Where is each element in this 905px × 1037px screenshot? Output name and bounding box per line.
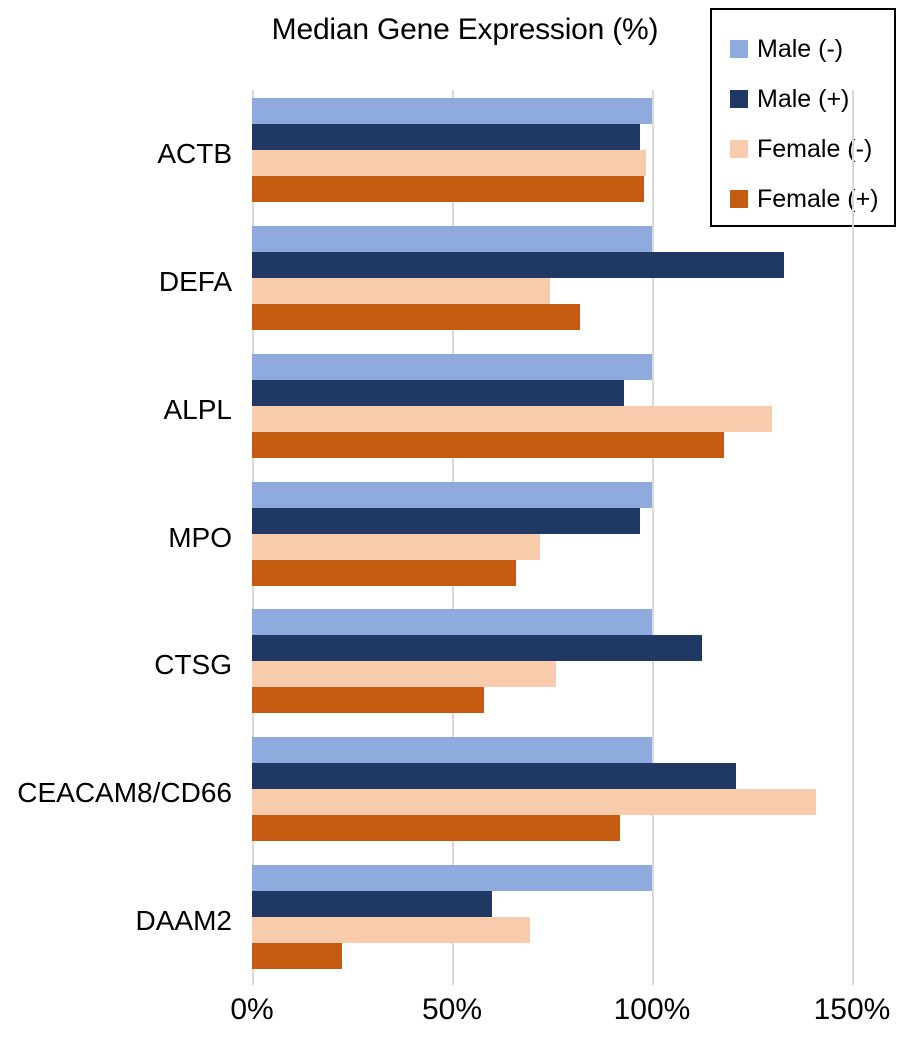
tick-label: 150% xyxy=(792,992,905,1028)
bar-group xyxy=(252,218,852,346)
bar[interactable] xyxy=(252,891,492,917)
bar[interactable] xyxy=(252,406,772,432)
tick-label: 100% xyxy=(592,992,712,1028)
bar[interactable] xyxy=(252,534,540,560)
category-label: MPO xyxy=(0,522,232,554)
bar[interactable] xyxy=(252,609,652,635)
category-label: ACTB xyxy=(0,138,232,170)
bar[interactable] xyxy=(252,252,784,278)
bar[interactable] xyxy=(252,635,702,661)
bar[interactable] xyxy=(252,815,620,841)
bar[interactable] xyxy=(252,380,624,406)
bar-group xyxy=(252,601,852,729)
plot-area xyxy=(252,90,852,985)
category-label: CTSG xyxy=(0,649,232,681)
tick-label: 50% xyxy=(392,992,512,1028)
legend-item-male-negative[interactable]: Male (-) xyxy=(730,24,894,74)
bar[interactable] xyxy=(252,176,644,202)
legend-swatch-icon xyxy=(730,40,748,58)
bar[interactable] xyxy=(252,278,550,304)
bar[interactable] xyxy=(252,865,652,891)
bar[interactable] xyxy=(252,226,652,252)
bar-group xyxy=(252,90,852,218)
tick-label: 0% xyxy=(192,992,312,1028)
bar[interactable] xyxy=(252,482,652,508)
bar[interactable] xyxy=(252,124,640,150)
bar-group xyxy=(252,729,852,857)
bar[interactable] xyxy=(252,763,736,789)
bar[interactable] xyxy=(252,432,724,458)
bar[interactable] xyxy=(252,560,516,586)
bar[interactable] xyxy=(252,304,580,330)
gridline xyxy=(852,90,854,985)
bar[interactable] xyxy=(252,737,652,763)
bar[interactable] xyxy=(252,150,646,176)
chart-title: Median Gene Expression (%) xyxy=(230,12,700,48)
bar-group xyxy=(252,857,852,985)
bar[interactable] xyxy=(252,789,816,815)
category-label: ALPL xyxy=(0,394,232,426)
category-label: DAAM2 xyxy=(0,905,232,937)
bar[interactable] xyxy=(252,98,652,124)
chart-container: Median Gene Expression (%) Male (-) Male… xyxy=(0,0,905,1037)
bar[interactable] xyxy=(252,943,342,969)
bar[interactable] xyxy=(252,661,556,687)
bar[interactable] xyxy=(252,917,530,943)
legend-item-label: Male (-) xyxy=(757,35,843,63)
bar[interactable] xyxy=(252,687,484,713)
bar[interactable] xyxy=(252,354,652,380)
bar[interactable] xyxy=(252,508,640,534)
category-label: DEFA xyxy=(0,266,232,298)
bar-group xyxy=(252,474,852,602)
bar-group xyxy=(252,346,852,474)
category-label: CEACAM8/CD66 xyxy=(0,777,232,809)
